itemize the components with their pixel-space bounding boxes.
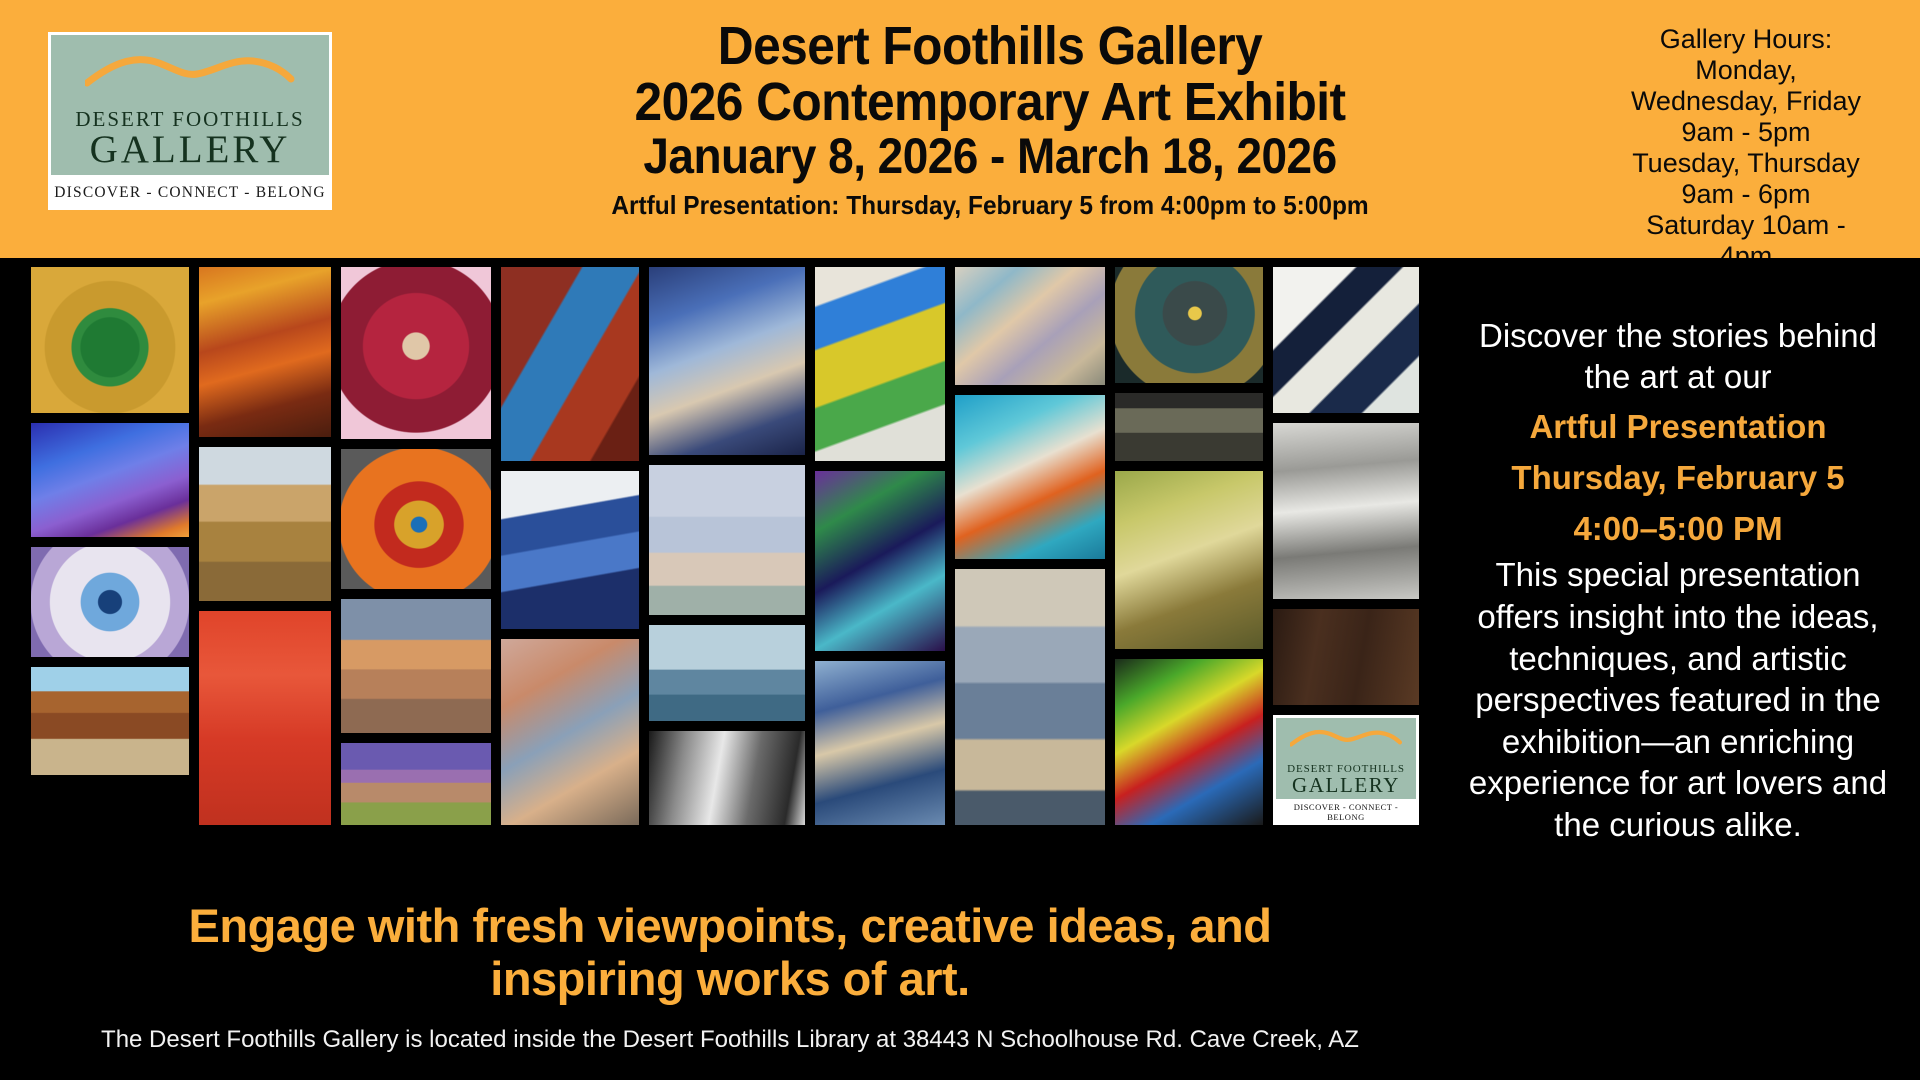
gallery-address: The Desert Foothills Gallery is located … [30, 1026, 1430, 1055]
hills-swoosh-icon [85, 49, 295, 89]
artwork-dark-wood-texture [1272, 608, 1420, 706]
artwork-cactus-blackwhite [648, 730, 806, 826]
artwork-cityscape-blue-buildings [814, 660, 946, 826]
header-title-block: Desert Foothills Gallery 2026 Contempora… [360, 18, 1620, 221]
info-highlight-line1: Artful Presentation [1452, 406, 1904, 449]
poster-root: DESERT FOOTHILLS GALLERY DISCOVER - CONN… [0, 0, 1920, 1080]
info-lead-line2: the art at our [1452, 357, 1904, 398]
info-body-text: This special presentation offers insight… [1452, 554, 1904, 845]
gallery-hours-line-3: Tuesday, Thursday [1596, 148, 1896, 179]
artwork-desert-butte-path [198, 446, 332, 602]
footer-tagline-line2: inspiring works of art. [30, 953, 1430, 1006]
artwork-blue-flower-macro [30, 546, 190, 658]
gallery-hours-label: Gallery Hours: [1596, 24, 1896, 55]
exhibit-title: 2026 Contemporary Art Exhibit [410, 74, 1569, 130]
hills-swoosh-icon [1290, 726, 1402, 748]
poster-body: DESERT FOOTHILLSGALLERYDISCOVER - CONNEC… [0, 258, 1920, 1080]
artwork-turquoise-coral-abstract [954, 394, 1106, 560]
artwork-orange-swirl-gourd [340, 448, 492, 590]
artwork-red-tree-blue-sky [500, 266, 640, 462]
info-lead-line1: Discover the stories behind [1452, 316, 1904, 357]
artwork-red-rock-canyon [30, 666, 190, 776]
artwork-blue-village-pastel [30, 422, 190, 538]
artwork-red-floral-face-portrait [340, 266, 492, 440]
artwork-gallery-grid: DESERT FOOTHILLSGALLERYDISCOVER - CONNEC… [20, 258, 1450, 896]
artwork-blue-abstract-geometry [500, 470, 640, 630]
artwork-reclining-nude [500, 638, 640, 826]
artwork-gallery-logo-tile: DESERT FOOTHILLSGALLERYDISCOVER - CONNEC… [1272, 714, 1420, 826]
gallery-hours-line-0: Monday, [1596, 55, 1896, 86]
gallery-logo-field: DESERT FOOTHILLS GALLERY [51, 35, 329, 175]
page-title: Desert Foothills Gallery [410, 18, 1569, 74]
artwork-collage-figure-mixed [954, 266, 1106, 386]
gallery-logo: DESERT FOOTHILLS GALLERY DISCOVER - CONN… [48, 32, 332, 210]
gallery-hours-line-1: Wednesday, Friday [1596, 86, 1896, 117]
artwork-ceramic-boat-vessel [1114, 392, 1264, 462]
artwork-moon-golden-encaustic [1114, 266, 1264, 384]
gallery-logo-tagline: DISCOVER - CONNECT - BELONG [51, 175, 329, 210]
gallery-logo-line2: GALLERY [90, 130, 291, 169]
artwork-grey-white-textured-abstract [1272, 422, 1420, 600]
artwork-gourd-green-crab [30, 266, 190, 414]
footer-tagline-line1: Engage with fresh viewpoints, creative i… [30, 900, 1430, 953]
artwork-beach-figure-sunset [340, 598, 492, 734]
gallery-logo-line1: DESERT FOOTHILLS [75, 108, 304, 130]
info-highlight-line3: 4:00–5:00 PM [1452, 508, 1904, 551]
artwork-purple-green-abstract [814, 470, 946, 652]
exhibit-dates: January 8, 2026 - March 18, 2026 [410, 130, 1569, 182]
artwork-desert-trees-pastel [340, 742, 492, 826]
artwork-pale-landscape-abstract [648, 464, 806, 616]
info-panel: Discover the stories behind the art at o… [1452, 316, 1904, 846]
artwork-grey-blue-abstract-tall [954, 568, 1106, 826]
artwork-yellow-bird-sculpture [814, 266, 946, 462]
gallery-hours-line-4: 9am - 6pm [1596, 179, 1896, 210]
gallery-tile-logo-field: DESERT FOOTHILLSGALLERY [1276, 718, 1416, 799]
info-highlight-line2: Thursday, February 5 [1452, 457, 1904, 500]
gallery-hours-line-5: Saturday 10am - [1596, 210, 1896, 241]
artwork-orange-abstract-figure [198, 266, 332, 438]
artwork-blue-masks-figures [648, 266, 806, 456]
poster-header: DESERT FOOTHILLS GALLERY DISCOVER - CONN… [0, 0, 1920, 258]
gallery-tile-tagline: DISCOVER - CONNECT - BELONG [1276, 799, 1416, 822]
gallery-hours-line-2: 9am - 5pm [1596, 117, 1896, 148]
artwork-blue-sea-horizon [648, 624, 806, 722]
footer-tagline: Engage with fresh viewpoints, creative i… [30, 900, 1430, 1005]
artwork-green-red-assemblage [1114, 658, 1264, 826]
presentation-subtitle: Artful Presentation: Thursday, February … [398, 190, 1582, 221]
gallery-tile-line2: GALLERY [1292, 775, 1400, 796]
gallery-hours: Gallery Hours: Monday, Wednesday, Friday… [1596, 24, 1896, 272]
artwork-botanical-leaf-gold [1114, 470, 1264, 650]
artwork-black-white-fused-glass [1272, 266, 1420, 414]
artwork-red-leaf-branch [198, 610, 332, 826]
